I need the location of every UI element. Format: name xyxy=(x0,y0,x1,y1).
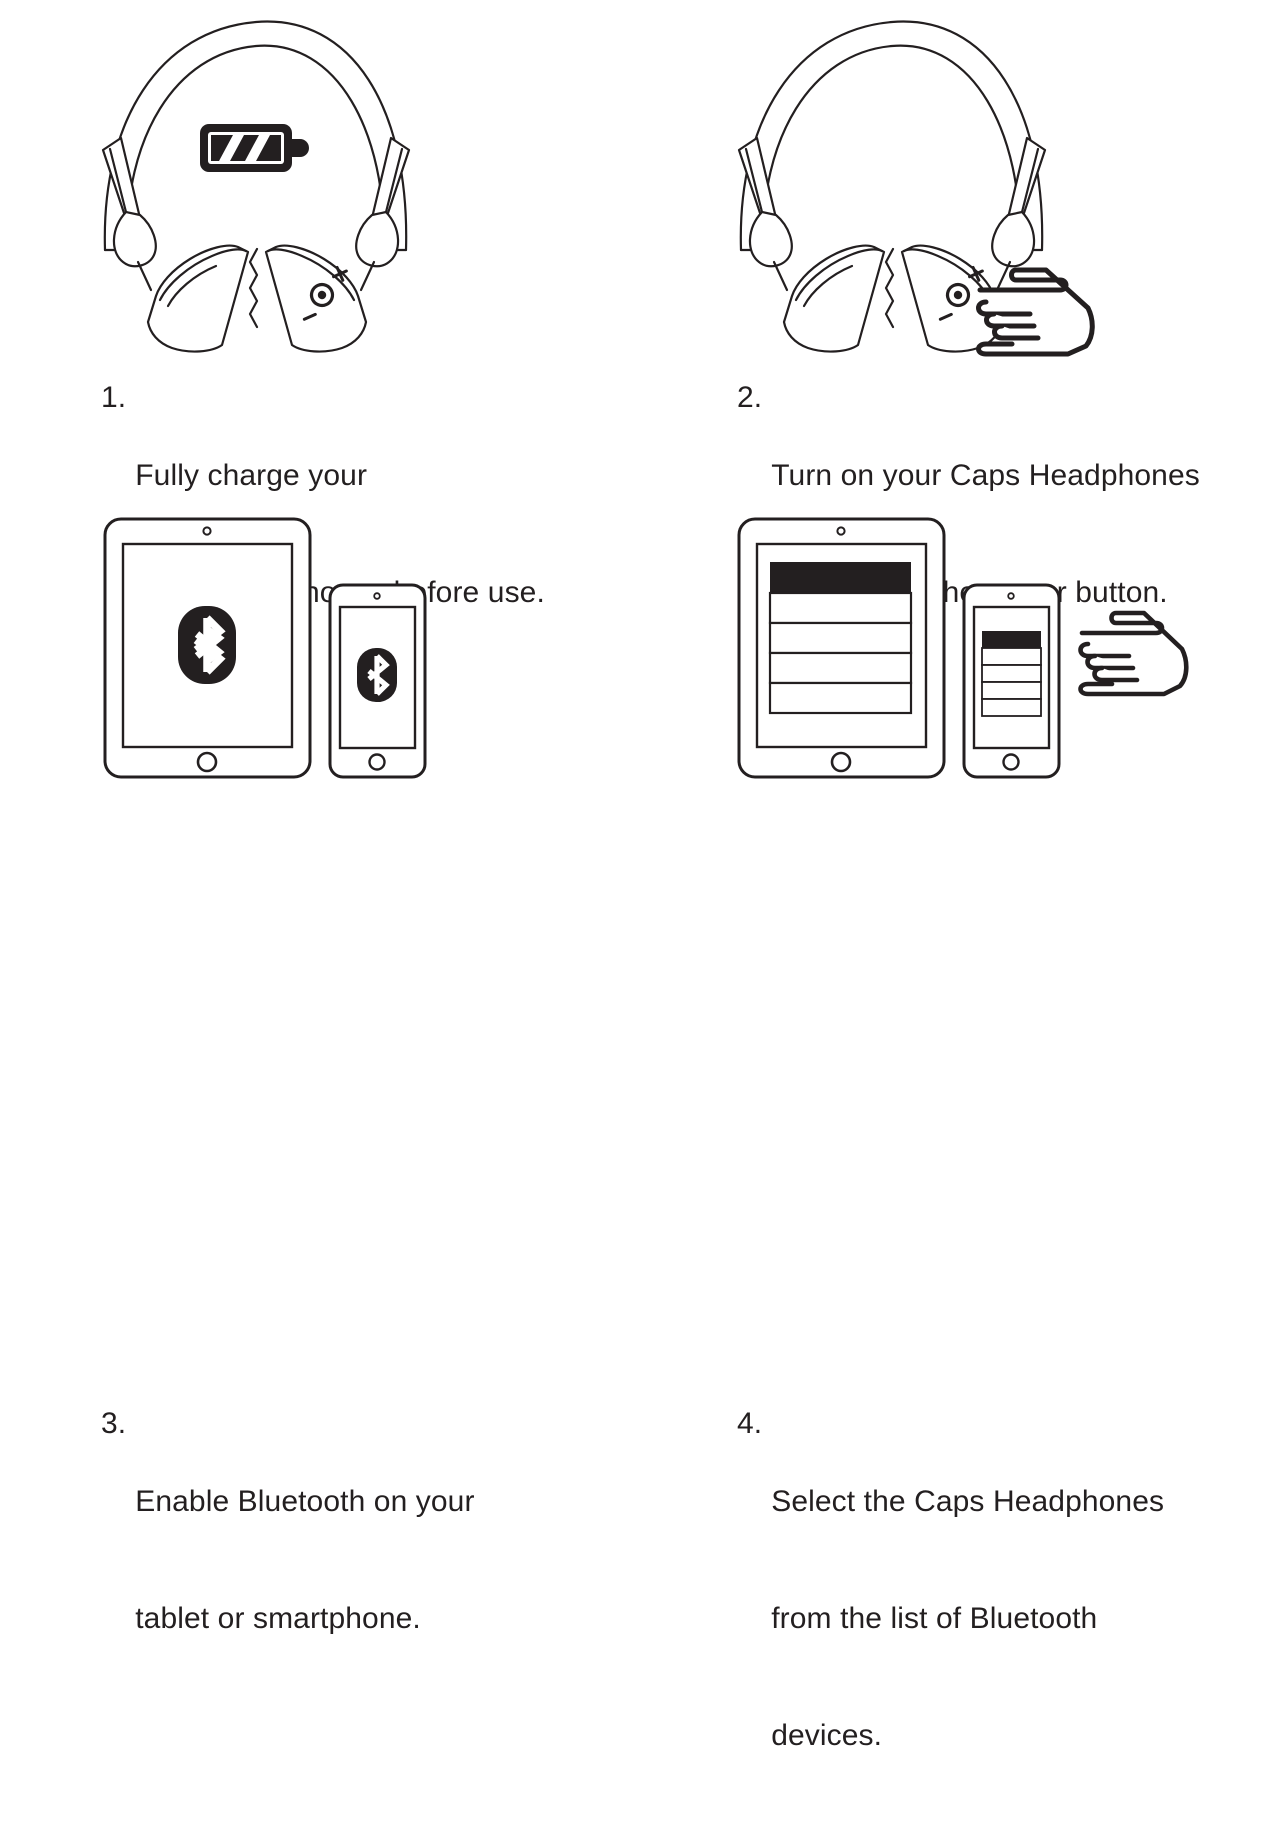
front-camera-icon xyxy=(837,527,844,534)
step-3-illustration xyxy=(0,513,636,883)
step-4-line-2: from the list of Bluetooth xyxy=(771,1599,1164,1638)
step-3: 3. Enable Bluetooth on your tablet or sm… xyxy=(0,513,636,1013)
step-3-number: 3. xyxy=(101,1404,126,1443)
step-1-line-1: Fully charge your xyxy=(135,456,545,495)
front-camera-icon xyxy=(1008,593,1014,599)
tablet xyxy=(739,519,944,777)
front-camera-icon xyxy=(374,593,380,599)
tablet-list-item-empty xyxy=(770,683,911,713)
bluetooth-icon xyxy=(178,606,236,684)
step-4-line-1: Select the Caps Headphones xyxy=(771,1482,1164,1521)
tablet-list-item-empty xyxy=(770,653,911,683)
tablet-list-item-selected xyxy=(770,562,911,593)
step-2-line-1: Turn on your Caps Headphones xyxy=(771,456,1200,495)
step-1-illustration xyxy=(0,0,636,370)
phone xyxy=(964,585,1059,777)
home-button-icon xyxy=(1004,755,1019,770)
home-button-icon xyxy=(370,755,385,770)
phone-list-item-empty xyxy=(982,648,1041,665)
step-2-illustration xyxy=(636,0,1271,370)
home-button-icon xyxy=(832,753,850,771)
step-4: Caps Headphones Caps Headphones 4. Selec… xyxy=(636,513,1271,1013)
tablet-list-item-empty xyxy=(770,623,911,653)
headphones-with-battery-icon xyxy=(0,0,636,370)
step-4-illustration xyxy=(636,513,1271,883)
step-2: 0.72 2. Turn on your Caps Headphones by … xyxy=(636,0,1271,500)
phone-device-list[interactable] xyxy=(982,631,1041,716)
phone-list-item-selected xyxy=(982,631,1041,648)
step-3-text: Enable Bluetooth on your tablet or smart… xyxy=(135,1404,474,1716)
front-camera-icon xyxy=(203,527,210,534)
phone xyxy=(330,585,425,777)
step-2-number: 2. xyxy=(737,378,762,417)
phone-list-item-empty xyxy=(982,682,1041,699)
quick-start-sheet: 1. Fully charge your Caps Headphones bef… xyxy=(0,0,1271,1013)
step-4-text: Select the Caps Headphones from the list… xyxy=(771,1404,1164,1833)
step-1: 1. Fully charge your Caps Headphones bef… xyxy=(0,0,636,500)
tablet-and-phone-with-bluetooth-logo xyxy=(0,513,636,883)
tablet-device-list[interactable] xyxy=(770,562,911,713)
step-3-line-2: tablet or smartphone. xyxy=(135,1599,474,1638)
phone-list-item-empty xyxy=(982,665,1041,682)
tablet-and-phone-device-list-with-hand xyxy=(636,513,1271,883)
step-3-caption: 3. Enable Bluetooth on your tablet or sm… xyxy=(101,1404,475,1716)
headphones-with-pointing-hand xyxy=(636,0,1271,370)
step-4-line-3: devices. xyxy=(771,1716,1164,1755)
pointing-hand-icon xyxy=(979,270,1093,354)
step-1-number: 1. xyxy=(101,378,126,417)
pointing-hand-icon xyxy=(1081,613,1187,694)
step-3-line-1: Enable Bluetooth on your xyxy=(135,1482,474,1521)
tablet-list-item-empty xyxy=(770,593,911,623)
bluetooth-icon xyxy=(357,648,397,702)
home-button-icon xyxy=(198,753,216,771)
step-4-number: 4. xyxy=(737,1404,762,1443)
step-4-caption: 4. Select the Caps Headphones from the l… xyxy=(737,1404,1164,1833)
tablet xyxy=(105,519,310,777)
phone-list-item-empty xyxy=(982,699,1041,716)
